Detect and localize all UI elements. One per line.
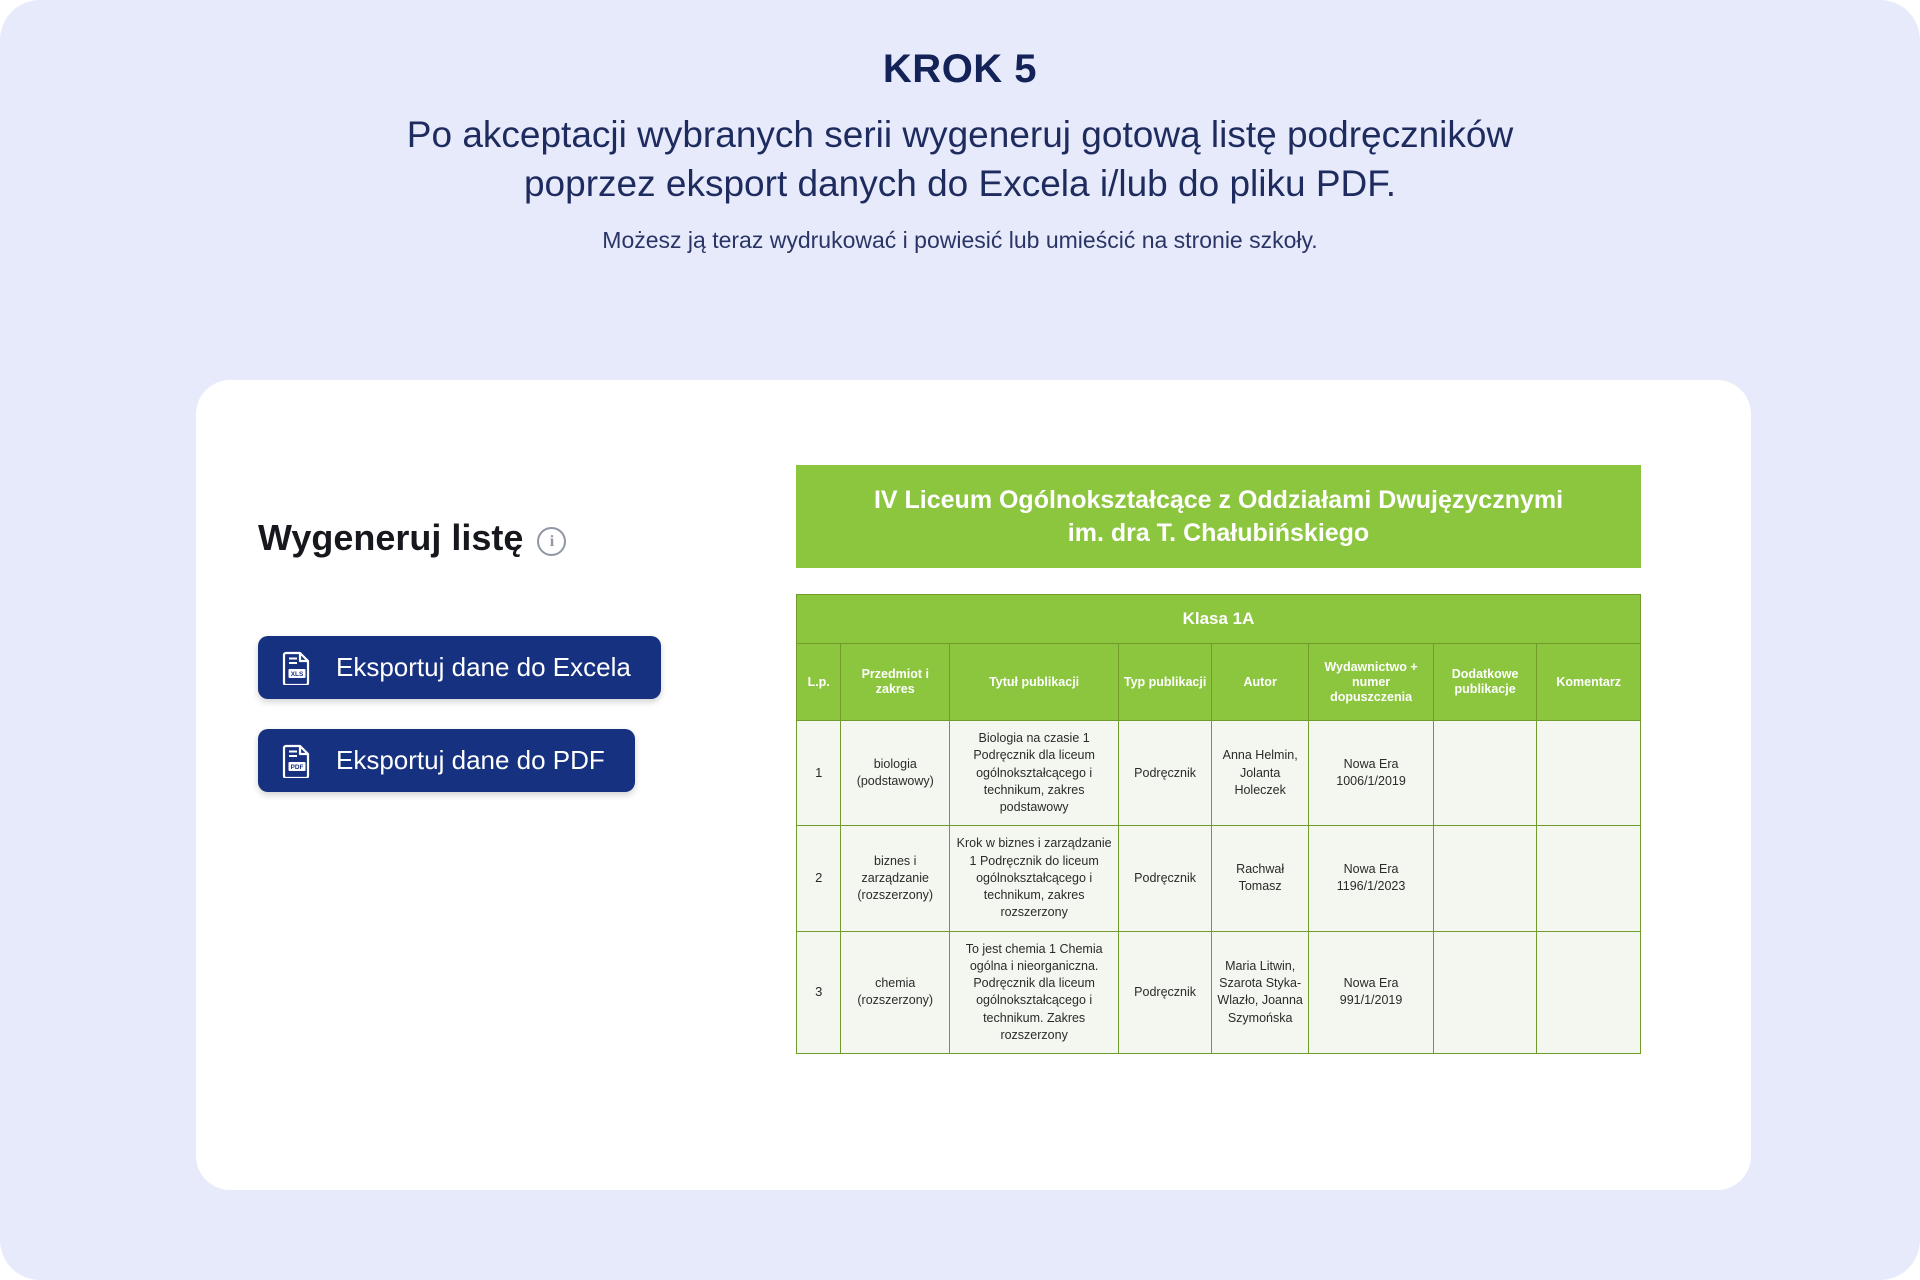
generate-heading-row: Wygeneruj listę i xyxy=(258,520,778,556)
cell-extra xyxy=(1433,826,1537,931)
table-row: 3 chemia (rozszerzony) To jest chemia 1 … xyxy=(797,931,1641,1054)
column-header-title: Tytuł publikacji xyxy=(950,644,1119,721)
cell-lp: 3 xyxy=(797,931,841,1054)
column-header-subject: Przedmiot i zakres xyxy=(841,644,950,721)
svg-text:PDF: PDF xyxy=(291,764,304,771)
school-name-line-1: IV Liceum Ogólnokształcące z Oddziałami … xyxy=(818,484,1619,517)
pdf-file-icon: PDF xyxy=(280,744,314,778)
cell-subject: chemia (rozszerzony) xyxy=(841,931,950,1054)
cell-lp: 2 xyxy=(797,826,841,931)
step-description: Po akceptacji wybranych serii wygeneruj … xyxy=(290,111,1630,209)
cell-author: Rachwał Tomasz xyxy=(1212,826,1309,931)
school-name-banner: IV Liceum Ogólnokształcące z Oddziałami … xyxy=(796,465,1641,568)
step-header: KROK 5 Po akceptacji wybranych serii wyg… xyxy=(0,46,1920,256)
column-header-author: Autor xyxy=(1212,644,1309,721)
content-card: Wygeneruj listę i XLS Eksportuj dane do … xyxy=(196,380,1751,1190)
page-background: KROK 5 Po akceptacji wybranych serii wyg… xyxy=(0,0,1920,1280)
cell-comment xyxy=(1537,826,1641,931)
step-title: KROK 5 xyxy=(0,46,1920,92)
svg-text:XLS: XLS xyxy=(291,671,304,678)
column-header-type: Typ publikacji xyxy=(1119,644,1212,721)
generate-panel: Wygeneruj listę i XLS Eksportuj dane do … xyxy=(258,520,778,792)
cell-subject: biologia (podstawowy) xyxy=(841,721,950,826)
cell-publisher: Nowa Era 1006/1/2019 xyxy=(1309,721,1434,826)
cell-author: Maria Litwin, Szarota Styka-Wlazło, Joan… xyxy=(1212,931,1309,1054)
cell-publisher: Nowa Era 1196/1/2023 xyxy=(1309,826,1434,931)
step-note: Możesz ją teraz wydrukować i powiesić lu… xyxy=(0,226,1920,256)
page-title: Wygeneruj listę xyxy=(258,520,523,556)
cell-subject: biznes i zarządzanie (rozszerzony) xyxy=(841,826,950,931)
step-description-line-1: Po akceptacji wybranych serii wygeneruj … xyxy=(290,111,1630,160)
column-header-extra: Dodatkowe publikacje xyxy=(1433,644,1537,721)
booklist-table: Klasa 1A L.p. Przedmiot i zakres Tytuł p… xyxy=(796,594,1641,1054)
class-header-row: Klasa 1A xyxy=(797,595,1641,644)
cell-extra xyxy=(1433,721,1537,826)
table-row: 1 biologia (podstawowy) Biologia na czas… xyxy=(797,721,1641,826)
info-icon[interactable]: i xyxy=(537,527,566,556)
cell-comment xyxy=(1537,721,1641,826)
cell-title: Biologia na czasie 1 Podręcznik dla lice… xyxy=(950,721,1119,826)
cell-extra xyxy=(1433,931,1537,1054)
step-description-line-2: poprzez eksport danych do Excela i/lub d… xyxy=(290,160,1630,209)
export-excel-label: Eksportuj dane do Excela xyxy=(336,652,631,683)
school-name-line-2: im. dra T. Chałubińskiego xyxy=(818,517,1619,550)
column-header-publisher: Wydawnictwo + numer dopuszczenia xyxy=(1309,644,1434,721)
xls-file-icon: XLS xyxy=(280,651,314,685)
cell-type: Podręcznik xyxy=(1119,931,1212,1054)
cell-lp: 1 xyxy=(797,721,841,826)
column-header-row: L.p. Przedmiot i zakres Tytuł publikacji… xyxy=(797,644,1641,721)
export-excel-button[interactable]: XLS Eksportuj dane do Excela xyxy=(258,636,661,699)
cell-publisher: Nowa Era 991/1/2019 xyxy=(1309,931,1434,1054)
export-pdf-label: Eksportuj dane do PDF xyxy=(336,745,605,776)
class-label: Klasa 1A xyxy=(797,595,1641,644)
cell-type: Podręcznik xyxy=(1119,721,1212,826)
cell-comment xyxy=(1537,931,1641,1054)
column-header-comment: Komentarz xyxy=(1537,644,1641,721)
cell-title: To jest chemia 1 Chemia ogólna i nieorga… xyxy=(950,931,1119,1054)
export-pdf-button[interactable]: PDF Eksportuj dane do PDF xyxy=(258,729,635,792)
table-row: 2 biznes i zarządzanie (rozszerzony) Kro… xyxy=(797,826,1641,931)
column-header-lp: L.p. xyxy=(797,644,841,721)
cell-title: Krok w biznes i zarządzanie 1 Podręcznik… xyxy=(950,826,1119,931)
booklist-preview: IV Liceum Ogólnokształcące z Oddziałami … xyxy=(796,465,1641,1054)
cell-author: Anna Helmin, Jolanta Holeczek xyxy=(1212,721,1309,826)
cell-type: Podręcznik xyxy=(1119,826,1212,931)
